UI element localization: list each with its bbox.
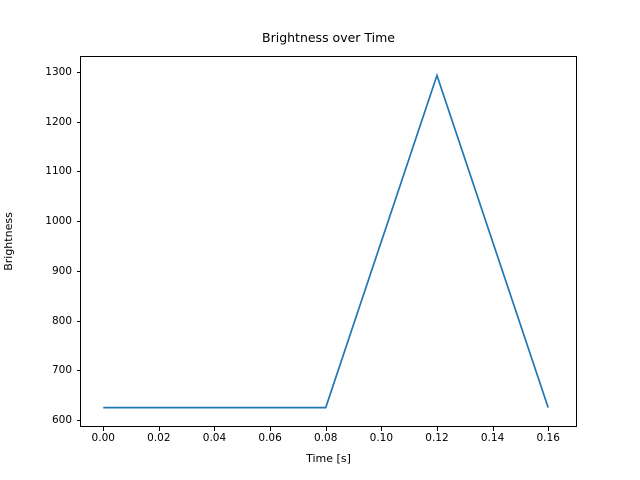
y-tick-label: 900 [52,265,72,277]
y-tick [77,370,81,371]
plot-area [80,56,577,427]
y-tick [77,221,81,222]
brightness-line [103,75,548,407]
x-tick-label: 0.16 [536,432,559,444]
y-tick-label: 1300 [45,66,72,78]
chart-title: Brightness over Time [80,30,577,45]
y-tick [77,171,81,172]
data-line-svg [81,57,576,426]
x-tick [214,427,215,431]
y-tick-label: 600 [52,414,72,426]
chart-figure: Brightness over Time 0.000.020.040.060.0… [0,0,640,480]
y-axis-label: Brightness [0,56,16,427]
y-tick-label: 1000 [45,215,72,227]
x-tick [159,427,160,431]
y-tick [77,72,81,73]
y-tick [77,321,81,322]
x-tick-label: 0.02 [147,432,170,444]
x-axis-label: Time [s] [80,452,577,465]
y-tick [77,271,81,272]
x-tick-label: 0.00 [92,432,115,444]
y-tick [77,420,81,421]
y-axis-label-text: Brightness [2,212,15,271]
x-tick-label: 0.10 [370,432,393,444]
y-tick-label: 700 [52,364,72,376]
x-tick [381,427,382,431]
y-tick [77,122,81,123]
x-tick [493,427,494,431]
y-tick-label: 1200 [45,116,72,128]
x-tick [548,427,549,431]
x-tick-label: 0.12 [425,432,448,444]
y-tick-label: 800 [52,315,72,327]
x-tick [103,427,104,431]
x-tick [326,427,327,431]
x-tick-label: 0.14 [481,432,504,444]
x-tick-label: 0.06 [258,432,281,444]
x-tick-label: 0.04 [203,432,226,444]
y-tick-label: 1100 [45,165,72,177]
x-tick-label: 0.08 [314,432,337,444]
x-tick [437,427,438,431]
x-tick [270,427,271,431]
